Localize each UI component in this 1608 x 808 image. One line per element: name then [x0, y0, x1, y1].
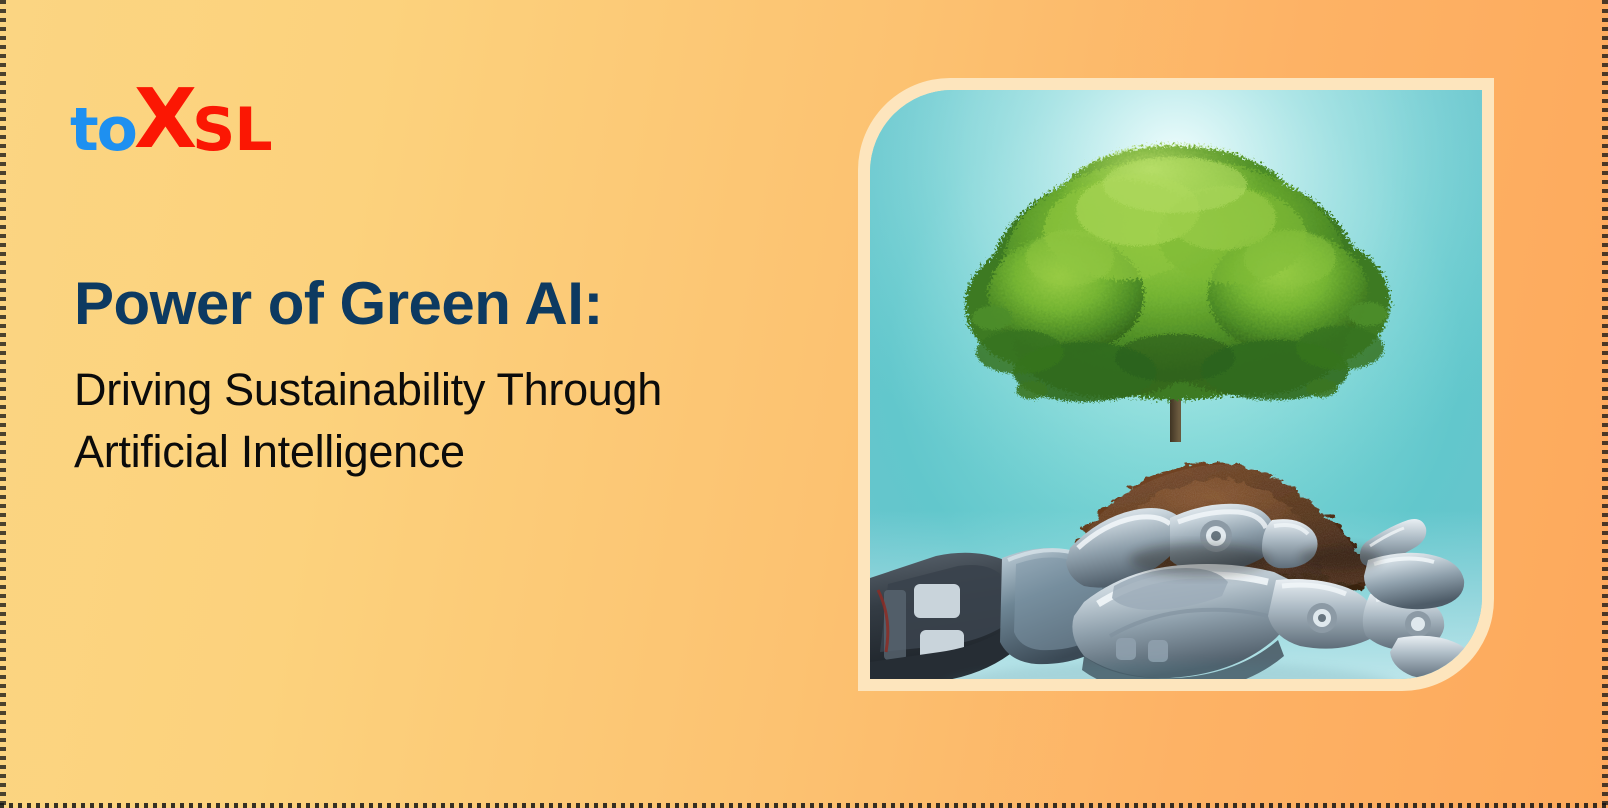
green-ai-illustration	[870, 90, 1482, 679]
toxsl-logo[interactable]: to X SL	[70, 92, 272, 166]
page-title: Power of Green AI:	[74, 272, 794, 337]
logo-text-to: to	[70, 102, 136, 159]
headline-block: Power of Green AI: Driving Sustainabilit…	[74, 272, 794, 483]
page-subtitle-line-1: Driving Sustainability Through	[74, 364, 662, 415]
hero-image-card	[858, 78, 1494, 691]
logo-text-sl: SL	[192, 102, 271, 159]
page-subtitle: Driving Sustainability Through Artificia…	[74, 359, 774, 483]
hero-photo	[870, 90, 1482, 679]
page-subtitle-line-2: Artificial Intelligence	[74, 426, 465, 477]
robot-upper-arm	[870, 553, 1020, 679]
left-edge-artifact	[0, 0, 6, 808]
banner-root: to X SL Power of Green AI: Driving Susta…	[0, 0, 1608, 808]
logo-text-x: X	[134, 90, 191, 149]
bottom-edge-artifact	[0, 803, 1608, 808]
right-edge-artifact	[1602, 0, 1608, 808]
